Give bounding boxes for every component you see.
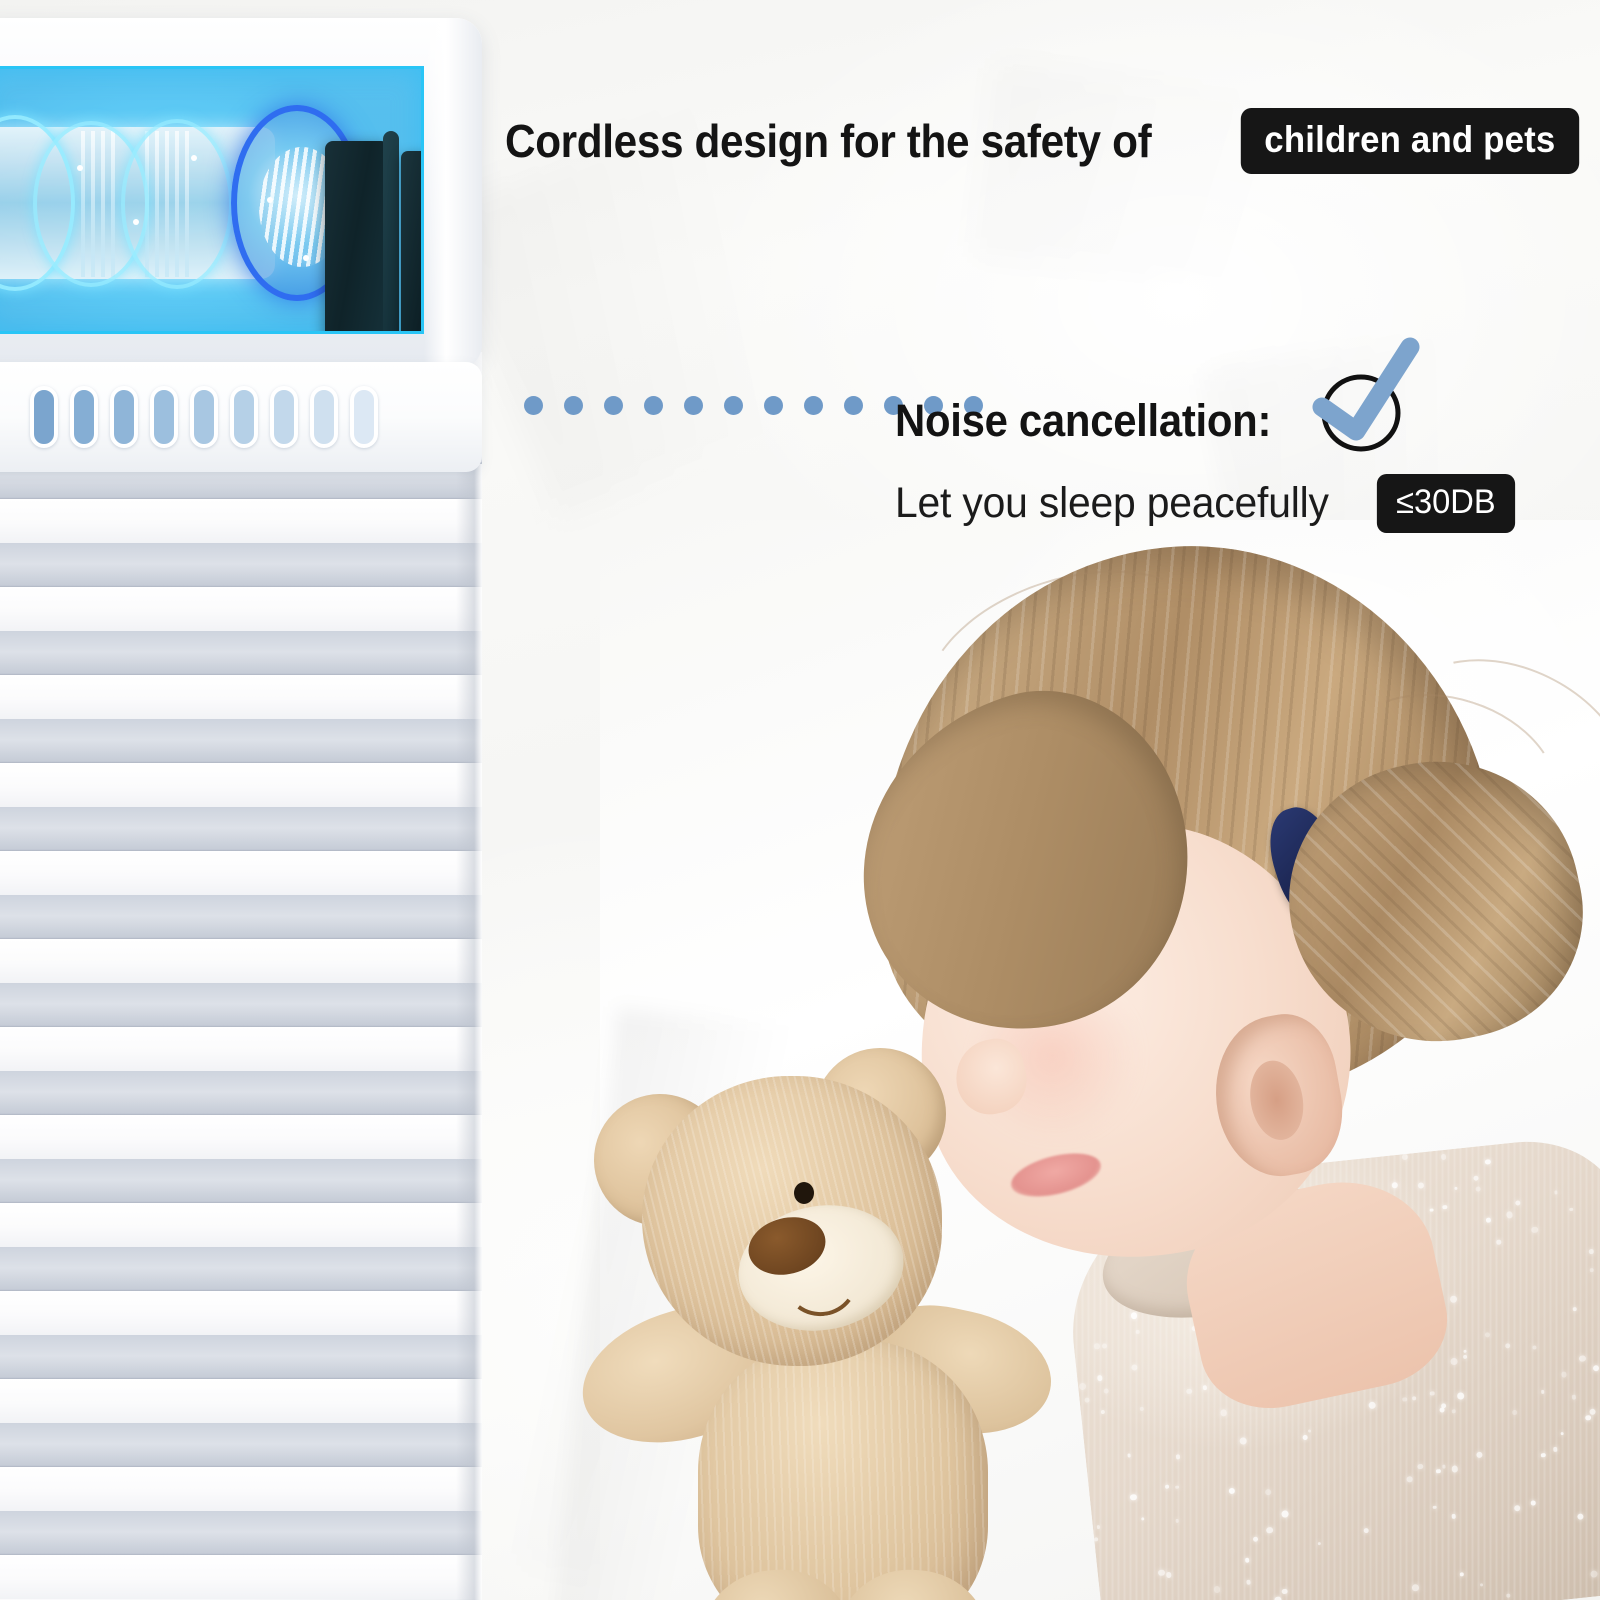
sequin <box>1412 1396 1417 1401</box>
sequin <box>1450 1358 1457 1365</box>
sequin <box>1406 1476 1412 1482</box>
device-edge <box>424 18 482 370</box>
sequin <box>1450 1295 1458 1303</box>
vent-indicator-pill <box>30 386 58 448</box>
blind-pleat-band <box>0 1423 482 1467</box>
sequin <box>1417 1464 1423 1470</box>
check-circle-icon <box>1309 335 1421 458</box>
sequin <box>1571 1394 1576 1399</box>
blind-pleat <box>0 1247 482 1335</box>
blind-pleat-gap <box>0 1291 482 1335</box>
feature-title: Noise cancellation: <box>895 395 1271 447</box>
vent-indicator-pill <box>190 386 218 448</box>
sequin <box>1579 1355 1586 1362</box>
blind-pleat-gap <box>0 1555 482 1599</box>
sequin <box>1131 1364 1138 1371</box>
feature-block: Noise cancellation: Let you sleep peacef… <box>895 383 1517 533</box>
sequin <box>1514 1505 1521 1512</box>
vent-indicator-pill <box>230 386 258 448</box>
sequin <box>1430 1391 1435 1396</box>
sequin <box>1102 1344 1107 1349</box>
sequin <box>1368 1402 1376 1410</box>
leader-dot <box>524 396 543 415</box>
sequin <box>1442 1464 1446 1468</box>
sequin <box>1214 1586 1221 1593</box>
headline-block: Cordless design for the safety of childr… <box>505 108 1589 174</box>
headline-badge: children and pets <box>1240 108 1578 174</box>
leader-dot <box>604 396 623 415</box>
glow-spark <box>77 165 83 171</box>
sequin <box>1203 1385 1208 1390</box>
sequin <box>1590 1570 1597 1577</box>
blind-pleat-band <box>0 807 482 851</box>
sequin <box>1412 1584 1420 1592</box>
blind-pleat <box>0 631 482 719</box>
sequin <box>1186 1388 1192 1394</box>
sequin <box>1561 1372 1567 1378</box>
blind-pleat <box>0 1159 482 1247</box>
sequin <box>1094 1537 1098 1541</box>
sequin <box>1592 1364 1599 1371</box>
sequin <box>1245 1558 1250 1563</box>
sequin <box>1097 1375 1103 1381</box>
blind-pleat-gap <box>0 1115 482 1159</box>
blind-pleat-gap <box>0 939 482 983</box>
blind-pleat-band <box>0 983 482 1027</box>
teddy-bear <box>570 1010 1090 1600</box>
sequin <box>1158 1569 1165 1576</box>
blind-pleat-gap <box>0 1203 482 1247</box>
sequin <box>1433 1505 1437 1509</box>
motor-housing <box>325 141 389 334</box>
sequin <box>1228 1487 1236 1495</box>
feature-title-row: Noise cancellation: <box>895 383 1517 458</box>
sequin <box>1127 1453 1131 1457</box>
sequin <box>1484 1332 1490 1338</box>
blind-pleat-gap <box>0 763 482 807</box>
sequin <box>1531 1226 1538 1233</box>
blind-pleat-band <box>0 543 482 587</box>
sequin <box>1094 1343 1100 1349</box>
leader-dot <box>844 396 863 415</box>
sequin <box>1308 1429 1312 1433</box>
sequin <box>1573 1307 1577 1311</box>
feature-subtitle: Let you sleep peacefully <box>895 479 1329 528</box>
vent-indicator-pill <box>70 386 98 448</box>
blind-pleat <box>0 983 482 1071</box>
sequin <box>1554 1191 1558 1195</box>
sequin <box>1266 1527 1273 1534</box>
sequin <box>1103 1388 1109 1394</box>
sequin <box>1512 1410 1517 1415</box>
sequin <box>1100 1409 1105 1414</box>
blind-pleat <box>0 1511 482 1599</box>
blind-pleat-band <box>0 1071 482 1115</box>
blind-pleat-gap <box>0 675 482 719</box>
blind-pleat <box>0 807 482 895</box>
blind-pleat <box>0 1071 482 1159</box>
sequin <box>1515 1200 1521 1206</box>
product-marketing-image: Cordless design for the safety of childr… <box>0 0 1600 1600</box>
blind-pleat <box>0 543 482 631</box>
sequin <box>1246 1580 1251 1585</box>
leader-dot <box>724 396 743 415</box>
sequin <box>1476 1451 1482 1457</box>
leader-dot <box>644 396 663 415</box>
sequin <box>1130 1494 1137 1501</box>
blind-pleat-band <box>0 719 482 763</box>
blind-pleat-gap <box>0 1467 482 1511</box>
sequin <box>1253 1536 1258 1541</box>
blind-pleat-gap <box>0 499 482 543</box>
blind-pleat-gap <box>0 851 482 895</box>
sequin <box>1139 1406 1144 1411</box>
glow-spark <box>133 219 139 225</box>
glow-spark <box>303 255 309 261</box>
vent-indicator-pill <box>150 386 178 448</box>
blind-pleat <box>0 1423 482 1511</box>
blind-pleat-gap <box>0 1027 482 1071</box>
glow-spark <box>191 155 197 161</box>
blind-pleat-band <box>0 1159 482 1203</box>
sequin <box>1436 1469 1441 1474</box>
sequin <box>1553 1447 1558 1452</box>
blind-pleat <box>0 719 482 807</box>
sequin <box>1402 1397 1406 1401</box>
motor-housing <box>383 131 399 334</box>
sequin <box>1096 1525 1100 1529</box>
leader-dot <box>684 396 703 415</box>
blind-pleat-band <box>0 1511 482 1555</box>
cellular-pleated-blind <box>0 455 482 1600</box>
sequin <box>1506 1594 1510 1598</box>
decibel-badge: ≤30DB <box>1376 474 1514 533</box>
blind-pleat-band <box>0 895 482 939</box>
sequin <box>1141 1517 1145 1521</box>
sequin <box>1561 1431 1564 1434</box>
sequin <box>1175 1519 1179 1523</box>
sequin <box>1281 1510 1288 1517</box>
sequin <box>1175 1485 1179 1489</box>
sequin <box>1506 1211 1514 1219</box>
sequin <box>1589 1408 1596 1415</box>
sequin <box>1265 1489 1272 1496</box>
vent-indicator-pill <box>310 386 338 448</box>
teddy-body <box>698 1340 988 1600</box>
sequin <box>1130 1312 1137 1319</box>
glow-ring <box>121 119 233 289</box>
vent-indicator-strip <box>0 362 482 472</box>
blind-pleat-band <box>0 1247 482 1291</box>
blind-pleat <box>0 1335 482 1423</box>
sequin <box>1541 1390 1545 1394</box>
sequin <box>1176 1455 1181 1460</box>
leader-dot <box>764 396 783 415</box>
sequin <box>1533 1346 1537 1350</box>
sequin <box>1463 1350 1466 1353</box>
glow-spark <box>267 197 273 203</box>
sequin <box>1240 1437 1247 1444</box>
sequin <box>1441 1403 1447 1409</box>
sequin <box>1317 1542 1321 1546</box>
sequin <box>1451 1465 1458 1472</box>
sequin <box>1303 1435 1308 1440</box>
sequin <box>1589 1249 1594 1254</box>
blind-pleat-band <box>0 1335 482 1379</box>
sequin <box>1541 1453 1546 1458</box>
leader-dot <box>804 396 823 415</box>
sequin <box>1460 1572 1464 1576</box>
sequin <box>1166 1572 1172 1578</box>
blind-pleat-gap <box>0 1379 482 1423</box>
headline-text: Cordless design for the safety of <box>505 114 1151 168</box>
feature-subtitle-row: Let you sleep peacefully ≤30DB <box>895 474 1517 533</box>
sequin <box>1590 1268 1595 1273</box>
sequin <box>1505 1343 1510 1348</box>
sequin <box>1457 1393 1464 1400</box>
sequin <box>1570 1207 1574 1211</box>
sequin <box>1585 1415 1591 1421</box>
sequin <box>1531 1500 1536 1505</box>
sleeping-child-photo <box>560 520 1600 1600</box>
sequin <box>1165 1485 1169 1489</box>
sequin <box>1578 1513 1585 1520</box>
blind-pleat-gap <box>0 587 482 631</box>
sequin <box>1275 1596 1282 1600</box>
leader-dot <box>564 396 583 415</box>
cordless-blind-device <box>0 18 482 370</box>
blind-pleat-band <box>0 631 482 675</box>
sequin <box>1364 1528 1370 1534</box>
sequin <box>1480 1583 1483 1586</box>
sequin <box>1463 1354 1467 1358</box>
teddy-eye <box>794 1182 814 1204</box>
sequin <box>1451 1514 1456 1519</box>
vent-indicator-pill <box>270 386 298 448</box>
sequin <box>1451 1409 1455 1413</box>
motor-housing <box>401 151 424 334</box>
sequin <box>1136 1329 1140 1333</box>
vent-indicator-pill <box>350 386 378 448</box>
sequin <box>1220 1409 1227 1416</box>
vent-indicator-pill <box>110 386 138 448</box>
motor-cutaway-view <box>0 66 424 334</box>
sequin <box>1282 1589 1288 1595</box>
blind-pleat <box>0 895 482 983</box>
